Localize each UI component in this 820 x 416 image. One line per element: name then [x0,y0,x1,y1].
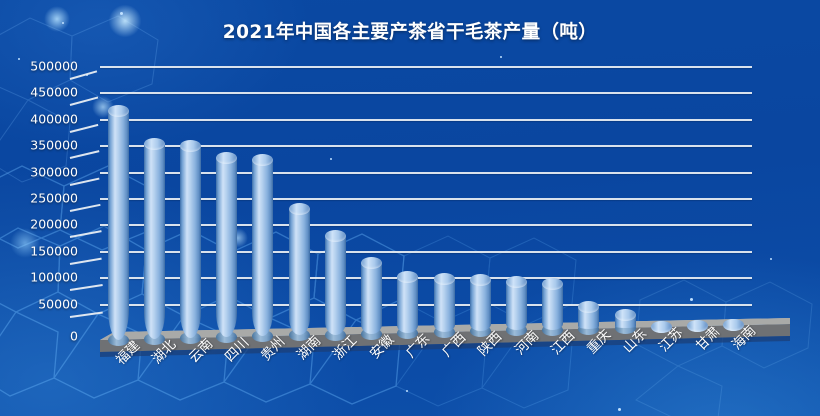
bar-body [180,146,201,338]
bar-top-ellipse [506,276,527,288]
bar-浙江[interactable] [325,230,346,335]
bar-body [216,158,237,337]
bar-series: 福建湖北云南四川贵州湖南浙江安徽广东广西陕西河南江西重庆山东江苏甘肃海南 [0,0,820,416]
bar-四川[interactable] [216,152,237,337]
bar-陕西[interactable] [470,274,491,331]
bar-江西[interactable] [542,278,563,330]
bar-body [289,209,310,335]
bar-body [325,236,346,335]
bar-body [434,279,455,332]
bar-body [397,277,418,333]
bar-安徽[interactable] [361,257,382,334]
bar-top-ellipse [397,271,418,283]
bar-湖北[interactable] [144,138,165,339]
bar-top-ellipse [470,274,491,286]
bar-福建[interactable] [108,105,129,340]
bar-body [470,280,491,331]
bar-body [108,111,129,340]
bar-云南[interactable] [180,140,201,338]
chart-canvas: 2021年中国各主要产茶省干毛茶产量（吨） 500000450000400000… [0,0,820,416]
bar-body [542,284,563,330]
bar-body [252,160,273,336]
bar-body [144,144,165,339]
bar-body [506,282,527,330]
bar-top-ellipse [434,273,455,285]
bar-河南[interactable] [506,276,527,330]
bar-广西[interactable] [434,273,455,332]
bar-top-ellipse [542,278,563,290]
bar-广东[interactable] [397,271,418,333]
bar-重庆[interactable] [578,301,599,328]
bar-top-ellipse [180,140,201,152]
bar-贵州[interactable] [252,154,273,336]
bar-top-ellipse [325,230,346,242]
bar-湖南[interactable] [289,203,310,335]
bar-top-ellipse [144,138,165,150]
bar-body [361,263,382,334]
bar-top-ellipse [108,105,129,117]
